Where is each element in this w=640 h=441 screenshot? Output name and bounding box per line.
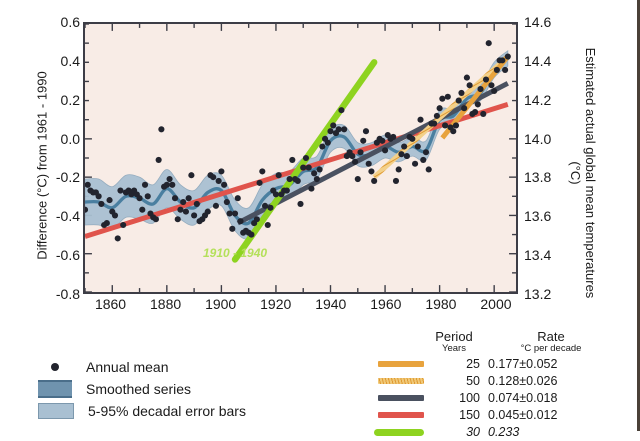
error-band: [85, 51, 508, 239]
legend-table-rows: 250.177±0.052500.128±0.0261000.074±0.018…: [372, 356, 622, 441]
trend-line: [374, 57, 508, 178]
y-axis-right-title: Estimated actual global mean temperature…: [567, 43, 597, 303]
y-tick-label-right: 14.0: [524, 131, 570, 147]
chart-canvas: [85, 24, 516, 292]
header-rate-sub: °C per decade: [480, 344, 622, 354]
legend-rate-value: 0.074±0.018: [488, 391, 622, 405]
y-tick-label-left: 0.6: [38, 14, 80, 30]
legend-item-smoothed-series: Smoothed series: [38, 378, 338, 400]
x-tick-label: 1980: [425, 296, 456, 312]
legend-rate-value: 0.233: [488, 425, 622, 439]
x-axis-ticks: 18601880190019201940196019802000: [83, 296, 518, 318]
y-tick-label-right: 13.2: [524, 286, 570, 302]
x-tick-label: 1860: [95, 296, 126, 312]
legend-rate-value: 0.128±0.026: [488, 374, 622, 388]
x-tick-label: 2000: [480, 296, 511, 312]
header-rate: Rate: [480, 330, 622, 344]
legend-rate-row: 300.233: [372, 424, 622, 441]
legend-series: Annual mean Smoothed series 5-95% decada…: [38, 356, 338, 422]
header-period: Period: [428, 330, 480, 344]
legend-item-error-bars: 5-95% decadal error bars: [38, 400, 338, 422]
legend-rate-row: 250.177±0.052: [372, 356, 622, 373]
trend-color-swatch-icon: [378, 378, 424, 384]
legend-label: Smoothed series: [86, 381, 191, 397]
legend-rate-row: 1000.074±0.018: [372, 390, 622, 407]
y-tick-label-right: 13.6: [524, 208, 570, 224]
legend-period-years: 30: [428, 425, 488, 439]
y-tick-label-right: 13.4: [524, 247, 570, 263]
legend-rate-row: 500.128±0.026: [372, 373, 622, 390]
dot-marker-icon: [38, 360, 72, 374]
y-axis-left-title: Difference (°C) from 1961 - 1990: [35, 36, 50, 296]
legend-table-header: Period Years Rate °C per decade: [372, 330, 622, 355]
y-tick-label-right: 14.2: [524, 92, 570, 108]
x-tick-label: 1900: [205, 296, 236, 312]
trend-color-swatch-icon: [378, 412, 424, 418]
legend-item-annual-mean: Annual mean: [38, 356, 338, 378]
legend-label: 5-95% decadal error bars: [88, 403, 246, 419]
chart-page: 0.60.40.20.0-0.2-0.4-0.6-0.8 14.614.414.…: [0, 0, 637, 431]
y-tick-label-right: 14.6: [524, 14, 570, 30]
line-swatch-icon: [38, 380, 72, 398]
trend-color-swatch-icon: [374, 429, 424, 436]
legend-rate-row: 1500.045±0.012: [372, 407, 622, 424]
y-tick-label-right: 13.8: [524, 169, 570, 185]
trend-color-swatch-icon: [378, 361, 424, 367]
legend-trend-rates: Period Years Rate °C per decade 250.177±…: [372, 330, 622, 441]
x-tick-label: 1960: [370, 296, 401, 312]
legend-period-years: 50: [428, 374, 488, 388]
plot-area: 1910 - 1940: [83, 22, 518, 294]
x-tick-label: 1920: [260, 296, 291, 312]
legend-period-years: 25: [428, 357, 488, 371]
header-period-sub: Years: [428, 344, 480, 354]
y-tick-label-right: 14.4: [524, 53, 570, 69]
axis-ticks: [85, 24, 516, 292]
legend-label: Annual mean: [86, 359, 169, 375]
band-swatch-icon: [38, 403, 74, 419]
trend-color-swatch-icon: [378, 395, 424, 401]
green-period-annotation: 1910 - 1940: [203, 246, 267, 260]
x-tick-label: 1880: [150, 296, 181, 312]
legend-rate-value: 0.045±0.012: [488, 408, 622, 422]
annual-mean-scatter: [85, 40, 511, 241]
legend-period-years: 150: [428, 408, 488, 422]
trend-lines: [85, 57, 508, 260]
legend-rate-value: 0.177±0.052: [488, 357, 622, 371]
legend-period-years: 100: [428, 391, 488, 405]
x-tick-label: 1940: [315, 296, 346, 312]
